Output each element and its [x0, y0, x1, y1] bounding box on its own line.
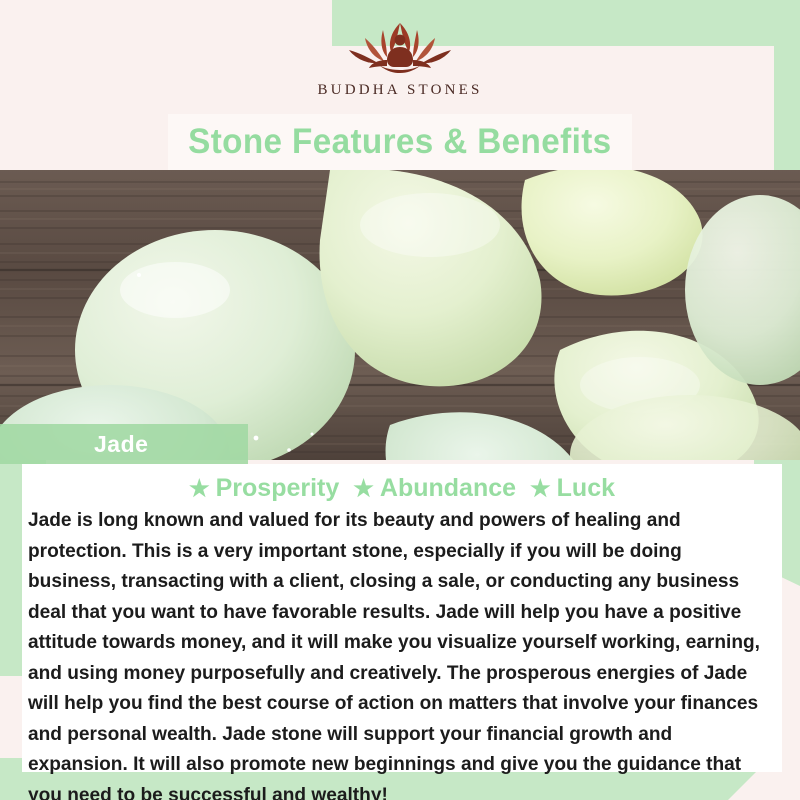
- stone-info-card: BUDDHA STONES Stone Features & Benefits: [0, 0, 800, 800]
- lotus-meditation-icon: [325, 16, 475, 78]
- stone-name-label: Jade: [94, 431, 148, 458]
- content-card: ★ Prosperity ★ Abundance ★ Luck Jade is …: [22, 464, 782, 772]
- benefit-item-abundance: ★ Abundance: [353, 474, 516, 503]
- benefit-label: Abundance: [380, 474, 516, 503]
- brand-header: BUDDHA STONES: [0, 0, 800, 118]
- benefit-item-prosperity: ★ Prosperity: [189, 474, 339, 503]
- stone-name-badge: Jade: [0, 424, 248, 464]
- stone-description: Jade is long known and valued for its be…: [28, 505, 763, 800]
- benefits-list: ★ Prosperity ★ Abundance ★ Luck: [22, 464, 782, 503]
- benefit-label: Luck: [557, 474, 615, 503]
- star-icon: ★: [353, 477, 374, 500]
- brand-name: BUDDHA STONES: [317, 82, 482, 99]
- title-panel: Stone Features & Benefits: [168, 114, 632, 170]
- star-icon: ★: [530, 477, 551, 500]
- page-title: Stone Features & Benefits: [188, 122, 611, 162]
- benefit-label: Prosperity: [216, 474, 340, 503]
- benefit-item-luck: ★ Luck: [530, 474, 615, 503]
- photo-illustration: [0, 170, 800, 460]
- jade-stones-photo: [0, 170, 800, 460]
- star-icon: ★: [189, 477, 210, 500]
